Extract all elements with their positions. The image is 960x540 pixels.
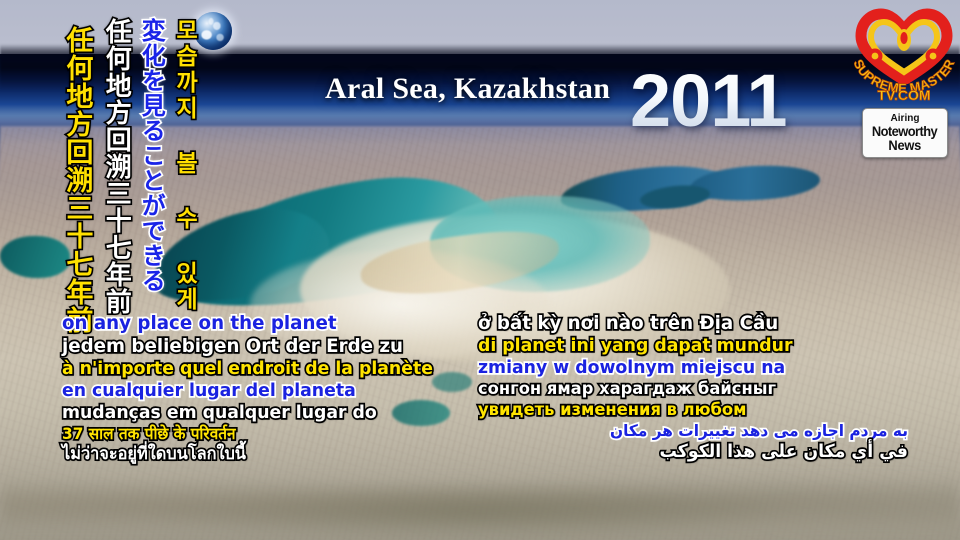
subtitle-line-thai: ไม่ว่าจะอยู่ที่ใดบนโลกใบนี้ xyxy=(62,446,475,463)
badge-line-noteworthy: Noteworthy xyxy=(872,124,937,138)
earth-globe-icon xyxy=(194,12,232,50)
subtitle-line-hindi: 37 साल तक पीछे के परिवर्तन xyxy=(62,426,475,442)
channel-name-line2: TV.COM xyxy=(877,87,930,103)
subtitle-line-mongolian: сонгон ямар харагдаж байсныг xyxy=(478,381,891,398)
page-title: Aral Sea, Kazakhstan xyxy=(325,72,610,106)
subtitle-column-right: ở bất kỳ nơi nào trên Địa Cầu di planet … xyxy=(478,314,908,465)
subtitle-line-vietnamese: ở bất kỳ nơi nào trên Địa Cầu xyxy=(478,314,891,333)
subtitle-line-german: jedem beliebigen Ort der Erde zu xyxy=(62,337,475,356)
foreground-blur-patches xyxy=(0,470,960,540)
year-label: 2011 xyxy=(630,64,787,138)
channel-logo[interactable]: SUPREME MASTER TV.COM xyxy=(853,6,955,106)
subtitle-line-polish: zmiany w dowolnym miejscu na xyxy=(478,359,891,377)
subtitle-column-left: on any place on the planet jedem beliebi… xyxy=(62,314,492,467)
vertical-subtitle-korean: 모습까지 볼 수 있게 xyxy=(172,18,196,313)
subtitle-line-spanish: en cualquier lugar del planeta xyxy=(62,382,475,400)
vertical-subtitle-chinese-simplified: 任何地方回溯三十七年前 xyxy=(62,26,90,334)
subtitle-line-indonesian: di planet ini yang dapat mundur xyxy=(478,337,891,355)
vertical-subtitle-japanese: 変化を見ることができる xyxy=(138,18,163,293)
subtitle-line-russian: увидеть изменения в любом xyxy=(478,402,891,419)
subtitle-line-english: on any place on the planet xyxy=(62,314,475,333)
badge-line-news: News xyxy=(889,138,922,152)
subtitle-line-french: à n'importe quel endroit de la planète xyxy=(62,360,475,378)
subtitle-line-persian: به مردم اجازه می دهد تغییرات هر مکان xyxy=(495,423,908,439)
subtitle-line-arabic: في أي مكان على هذا الكوكب xyxy=(495,443,908,461)
subtitle-line-portuguese: mudanças em qualquer lugar do xyxy=(62,404,475,422)
vertical-subtitle-chinese-traditional: 任何地方回溯三十七年前 xyxy=(102,18,129,315)
status-badge: Airing Noteworthy News xyxy=(862,108,948,158)
water-body-west xyxy=(0,236,70,278)
video-frame: 任何地方回溯三十七年前 任何地方回溯三十七年前 変化を見ることができる 모습까지… xyxy=(0,0,960,540)
channel-name-arc: SUPREME MASTER TV.COM xyxy=(851,46,957,104)
